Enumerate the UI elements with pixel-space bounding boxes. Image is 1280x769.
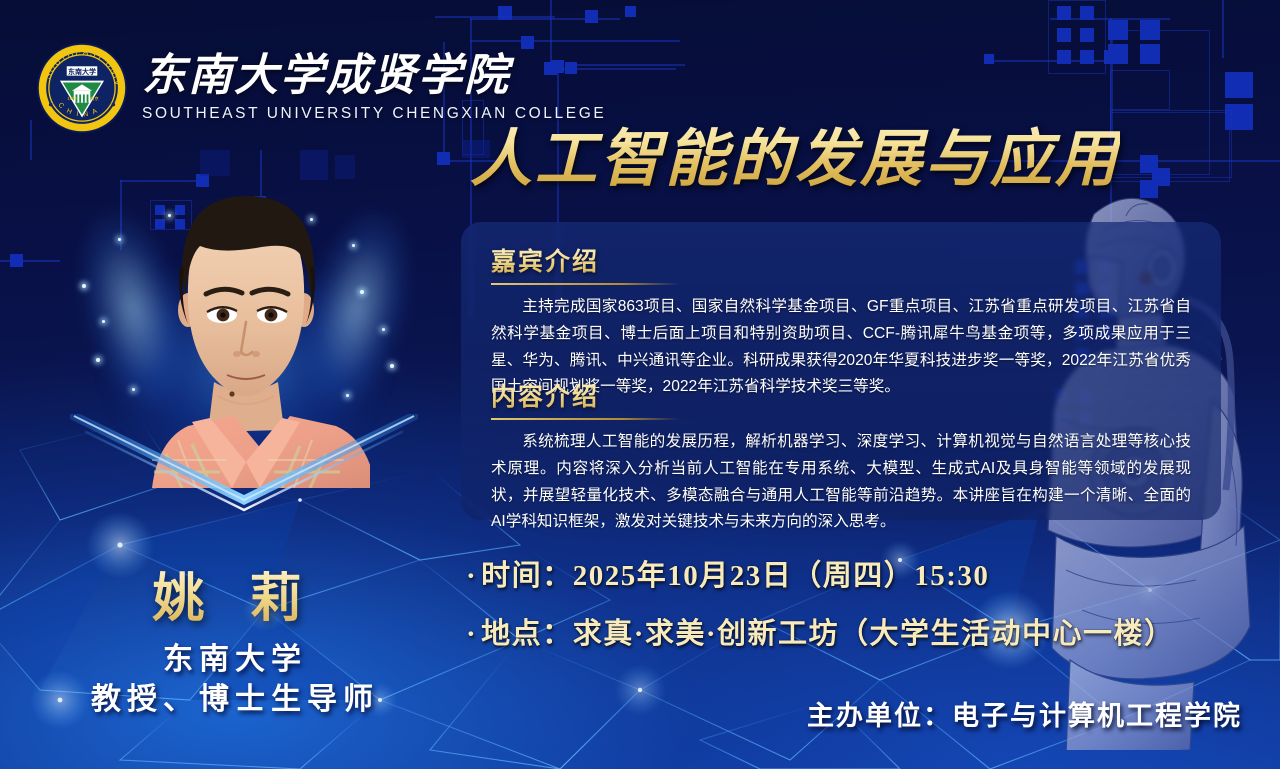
event-details: · 时间： 2025年10月23日（周四）15:30 · 地点： 求真·求美·创… — [466, 552, 1175, 668]
sparkle-dot — [132, 388, 135, 391]
sparkle-dot — [82, 284, 86, 288]
svg-text:东南大学: 东南大学 — [68, 67, 96, 76]
sparkle-dot — [310, 218, 313, 221]
event-place-line: · 地点： 求真·求美·创新工坊（大学生活动中心一楼） — [466, 610, 1175, 652]
sparkle-dot — [382, 328, 385, 331]
sparkle-dot — [390, 364, 394, 368]
guest-section-heading: 嘉宾介绍 — [491, 242, 599, 278]
speaker-name: 姚 莉 — [0, 556, 470, 631]
speaker-affiliation-line2: 教授、博士生导师 — [0, 680, 470, 720]
content-section-heading: 内容介绍 — [491, 377, 599, 413]
poster-root: SOUTHEAST UNIVERSITY C H I N A 东南大学 1902… — [0, 0, 1280, 769]
content-section-body: 系统梳理人工智能的发展历程，解析机器学习、深度学习、计算机视觉与自然语言处理等核… — [491, 429, 1191, 536]
content-heading-rule — [491, 418, 679, 420]
sparkle-dot — [96, 358, 100, 362]
sparkle-dot — [102, 320, 105, 323]
speaker-affiliation-line1: 东南大学 — [0, 640, 470, 680]
sparkle-dot — [168, 214, 171, 217]
event-time-line: · 时间： 2025年10月23日（周四）15:30 — [466, 552, 1175, 594]
page-title: 人工智能的发展与应用 — [470, 108, 1120, 198]
bullet-icon: · — [466, 618, 477, 651]
event-place-label: 地点： — [481, 610, 573, 652]
event-time-label: 时间： — [481, 552, 573, 594]
event-place-value: 求真·求美·创新工坊（大学生活动中心一楼） — [573, 610, 1175, 652]
svg-text:南京: 南京 — [90, 95, 98, 102]
host-organization: 主办单位：电子与计算机工程学院 — [807, 694, 1242, 733]
sparkle-dot — [352, 244, 355, 247]
info-panel: 嘉宾介绍 主持完成国家863项目、国家自然科学基金项目、GF重点项目、江苏省重点… — [461, 222, 1221, 520]
bullet-icon: · — [466, 560, 477, 593]
sparkle-dot — [118, 238, 121, 241]
content-section: 内容介绍 系统梳理人工智能的发展历程，解析机器学习、深度学习、计算机视觉与自然语… — [491, 377, 1191, 536]
sparkle-dot — [360, 290, 364, 294]
speaker-portrait — [60, 178, 430, 508]
sparkle-dot — [346, 394, 349, 397]
brand-name-cn: 东南大学成贤学院 — [142, 53, 606, 99]
speaker-affiliation: 东南大学 教授、博士生导师 — [0, 640, 470, 719]
chevron-frame-icon — [70, 414, 418, 514]
svg-text:1902: 1902 — [67, 96, 77, 101]
seu-emblem-icon: SOUTHEAST UNIVERSITY C H I N A 东南大学 1902… — [36, 42, 128, 134]
event-time-value: 2025年10月23日（周四）15:30 — [573, 552, 990, 594]
guest-heading-rule — [491, 283, 679, 285]
